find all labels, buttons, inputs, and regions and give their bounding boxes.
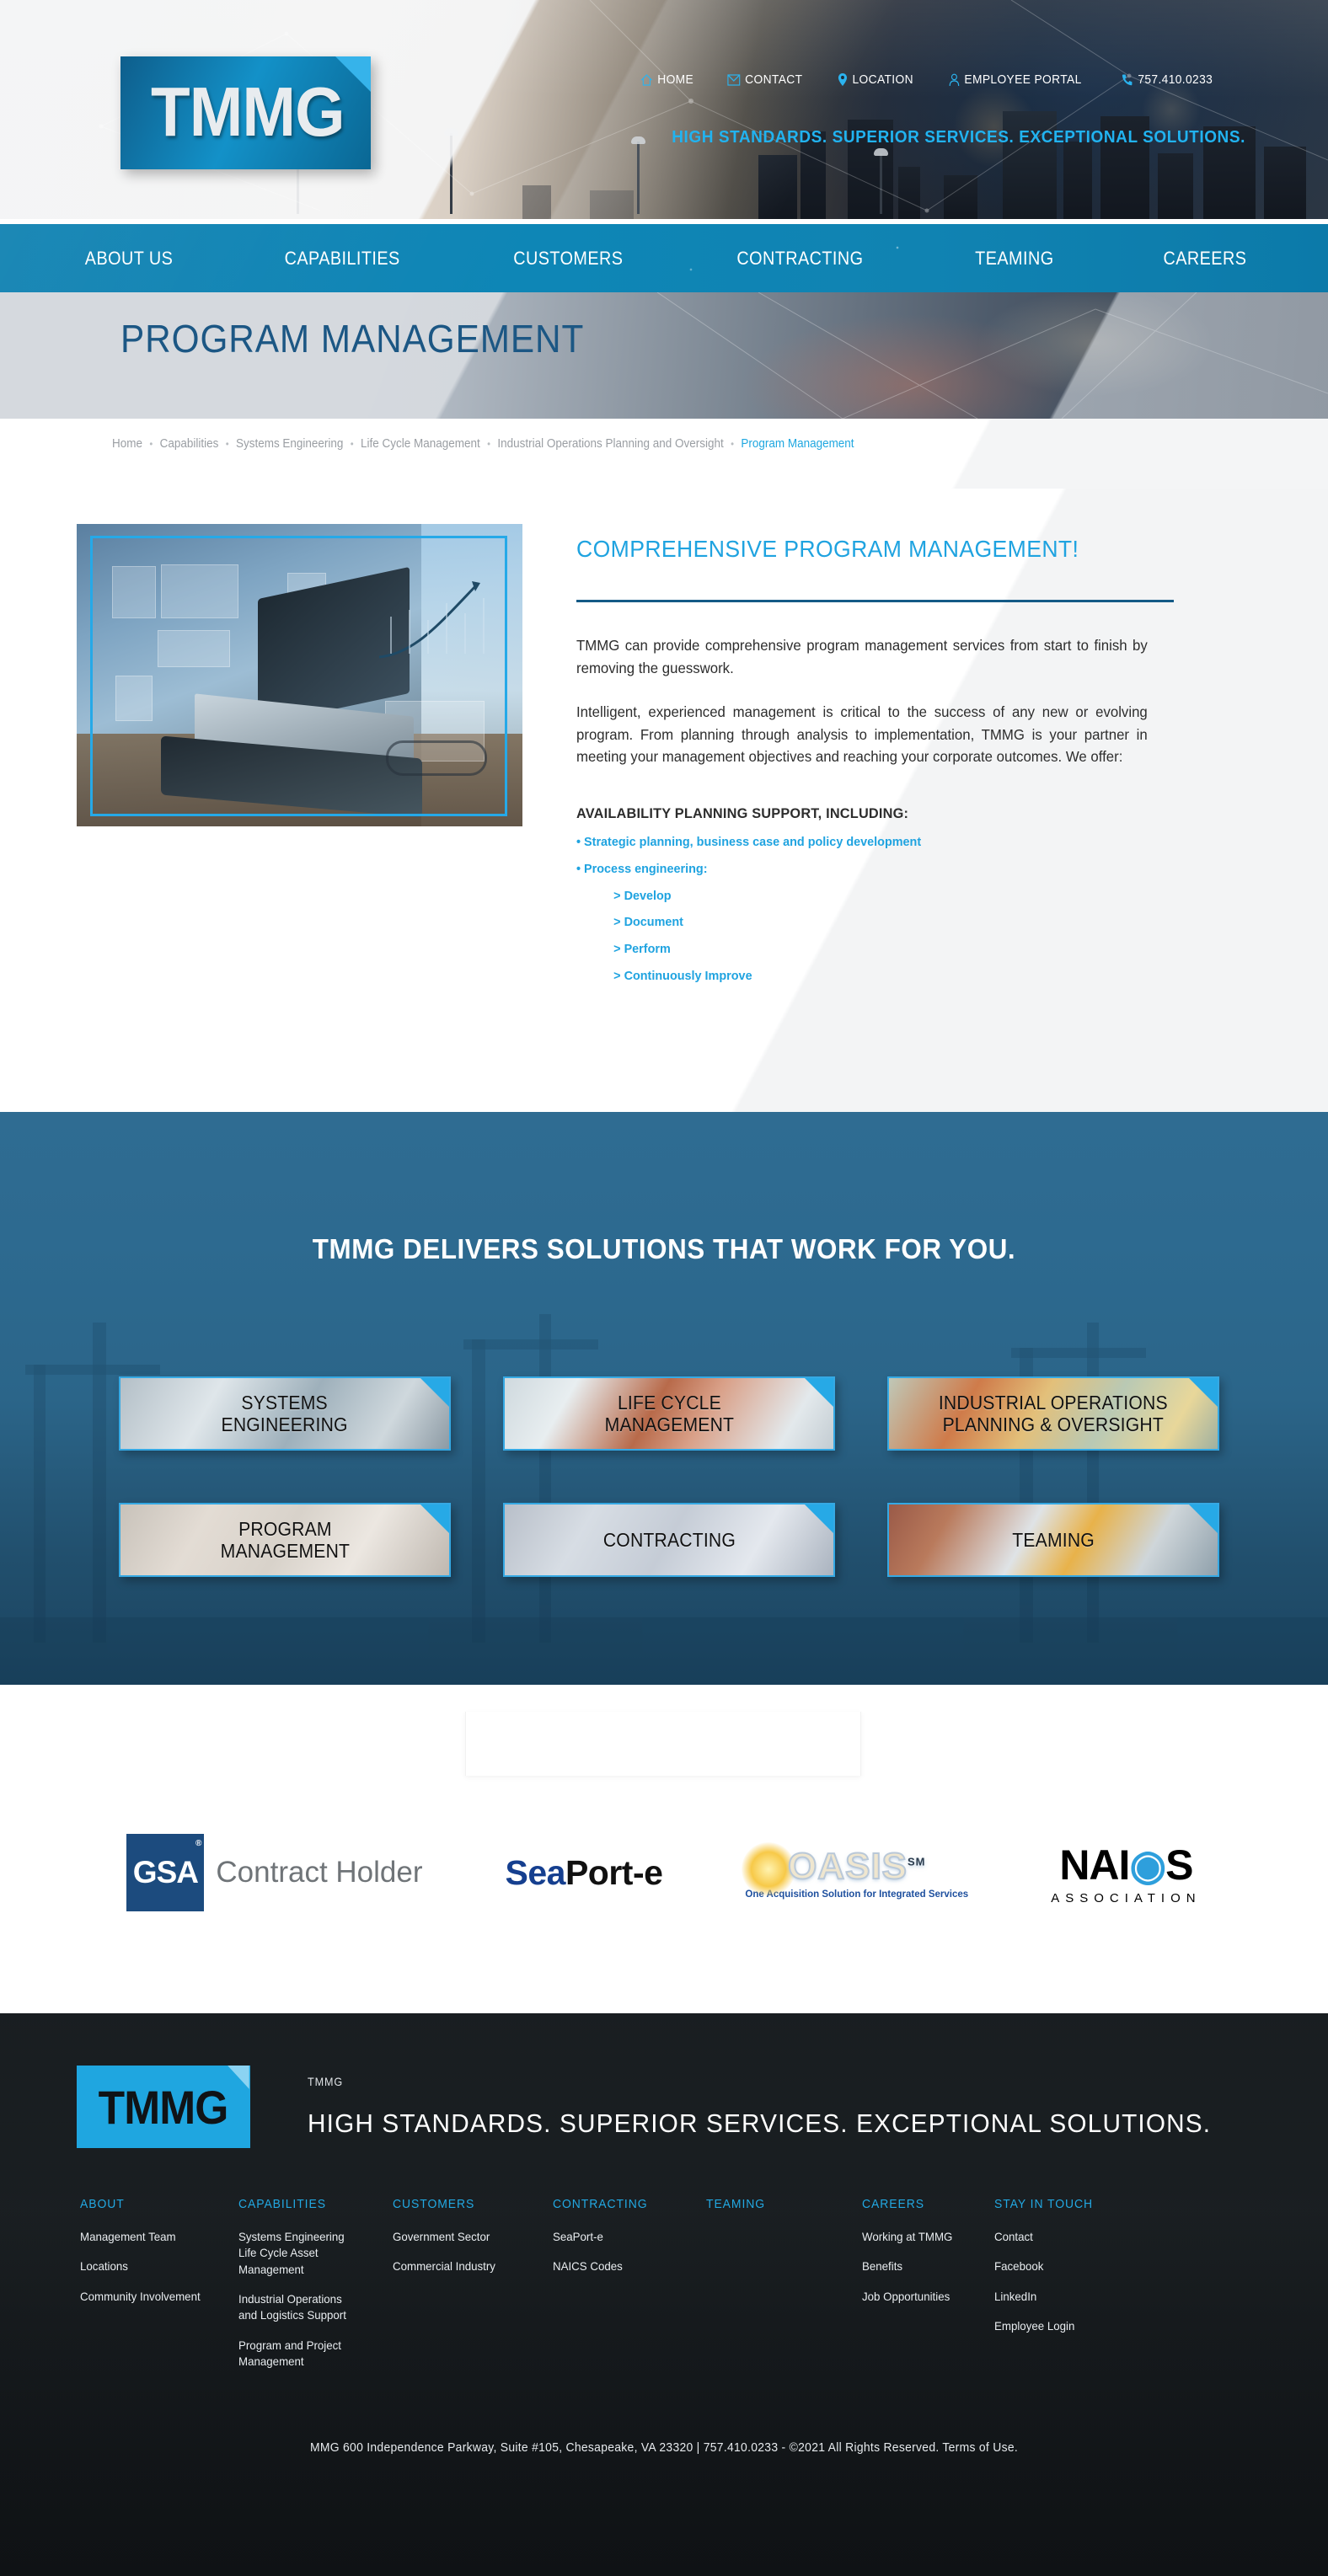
utility-link-phone[interactable]: 757.410.0233 (1122, 72, 1213, 87)
breadcrumb-item-capabilities[interactable]: Capabilities (160, 437, 219, 451)
tile-label: LIFE CYCLEMANAGEMENT (604, 1392, 733, 1436)
tile-systems-engineering[interactable]: SYSTEMSENGINEERING (119, 1376, 451, 1451)
oasis-wordmark: OASIS (788, 1846, 908, 1887)
utility-link-label: EMPLOYEE PORTAL (964, 72, 1081, 87)
footer-column-contracting: CONTRACTING SeaPort-e NAICS Codes (553, 2197, 706, 2370)
footer-column-heading: TEAMING (706, 2197, 851, 2211)
footer-link[interactable]: Working at TMMG (862, 2229, 988, 2245)
naics-circle-icon: ◉ (1129, 1841, 1165, 1889)
oasis-sm-mark: SM (908, 1855, 926, 1868)
registered-icon: ® (195, 1839, 201, 1848)
oasis-logo[interactable]: OASISSM One Acquisition Solution for Int… (745, 1846, 968, 1900)
footer-link[interactable]: SeaPort-e (553, 2229, 699, 2245)
nav-item-careers[interactable]: CAREERS (1164, 248, 1247, 270)
logo-text: TMMG (151, 72, 345, 152)
nav-item-teaming[interactable]: TEAMING (975, 248, 1053, 270)
list-item: > Perform (576, 936, 1224, 963)
footer-link[interactable]: NAICS Codes (553, 2258, 699, 2274)
nav-item-customers[interactable]: CUSTOMERS (513, 248, 623, 270)
page-title-band: PROGRAM MANAGEMENT (0, 292, 1328, 419)
utility-link-contact[interactable]: CONTACT (727, 72, 802, 87)
footer-link[interactable]: Industrial Operationsand Logistics Suppo… (238, 2291, 385, 2324)
content-feature-image (77, 524, 522, 826)
naics-wordmark: NAI◉S (1051, 1841, 1201, 1889)
tile-life-cycle-management[interactable]: LIFE CYCLEMANAGEMENT (503, 1376, 835, 1451)
footer-link[interactable]: Employee Login (994, 2318, 1154, 2334)
utility-nav: HOME CONTACT LOCATION (640, 72, 1230, 87)
footer-link[interactable]: Systems EngineeringLife Cycle AssetManag… (238, 2229, 385, 2278)
nav-item-about-us[interactable]: ABOUT US (85, 248, 173, 270)
tile-contracting[interactable]: CONTRACTING (503, 1503, 835, 1577)
main-content: COMPREHENSIVE PROGRAM MANAGEMENT! TMMG c… (0, 489, 1328, 1112)
footer-tagline: HIGH STANDARDS. SUPERIOR SERVICES. EXCEP… (308, 2108, 1211, 2139)
footer-link[interactable]: LinkedIn (994, 2289, 1154, 2305)
seaport-suffix: Port-e (565, 1853, 662, 1892)
list-item: • Process engineering: (576, 856, 1224, 883)
content-list: • Strategic planning, business case and … (576, 829, 1251, 990)
hero-banner: TMMG HOME CONTACT LOC (0, 0, 1328, 219)
footer-link[interactable]: Commercial Industry (393, 2258, 545, 2274)
utility-link-label: HOME (657, 72, 693, 87)
list-item: • Strategic planning, business case and … (576, 829, 1224, 856)
footer-link-columns: ABOUT Management Team Locations Communit… (77, 2197, 1251, 2370)
list-item: > Develop (576, 883, 1224, 910)
content-copy: COMPREHENSIVE PROGRAM MANAGEMENT! TMMG c… (576, 524, 1251, 990)
footer-column-teaming: TEAMING (706, 2197, 862, 2370)
naics-association-logo[interactable]: NAI◉S ASSOCIATION (1051, 1841, 1201, 1905)
envelope-icon (727, 74, 741, 86)
footer-link[interactable]: Government Sector (393, 2229, 545, 2245)
breadcrumb-item-systems-engineering[interactable]: Systems Engineering (236, 437, 343, 451)
breadcrumb-separator: • (731, 438, 734, 450)
tile-label: TEAMING (1012, 1529, 1095, 1551)
gsa-contract-holder-logo[interactable]: GSA® Contract Holder (126, 1834, 422, 1911)
header-tagline: HIGH STANDARDS. SUPERIOR SERVICES. EXCEP… (672, 128, 1224, 147)
utility-link-home[interactable]: HOME (640, 72, 693, 87)
footer-column-about: ABOUT Management Team Locations Communit… (80, 2197, 238, 2370)
breadcrumb-separator: • (487, 438, 490, 450)
utility-link-label: LOCATION (852, 72, 913, 87)
utility-link-label: 757.410.0233 (1138, 72, 1213, 87)
tile-teaming[interactable]: TEAMING (887, 1503, 1219, 1577)
partner-logos-section: GSA® Contract Holder SeaPort-e OASISSM O… (0, 1685, 1328, 2013)
home-icon (640, 73, 653, 87)
gsa-mark: GSA® (126, 1834, 204, 1911)
tile-label: PROGRAMMANAGEMENT (220, 1518, 349, 1563)
footer-column-capabilities: CAPABILITIES Systems EngineeringLife Cyc… (238, 2197, 393, 2370)
content-paragraph: TMMG can provide comprehensive program m… (576, 634, 1148, 679)
tile-label: CONTRACTING (602, 1529, 735, 1551)
breadcrumb-separator: • (226, 438, 229, 450)
list-item: > Continuously Improve (576, 963, 1224, 990)
utility-link-location[interactable]: LOCATION (838, 72, 913, 87)
utility-link-label: CONTACT (745, 72, 802, 87)
footer-column-heading: STAY IN TOUCH (994, 2197, 1151, 2211)
content-list-heading: AVAILABILITY PLANNING SUPPORT, INCLUDING… (576, 805, 1224, 822)
footer-kicker: TMMG (308, 2075, 1154, 2088)
solutions-section: TMMG DELIVERS SOLUTIONS THAT WORK FOR YO… (0, 1112, 1328, 1685)
footer-link[interactable]: Benefits (862, 2258, 988, 2274)
footer-column-heading: ABOUT (80, 2197, 228, 2211)
breadcrumb-item-home[interactable]: Home (112, 437, 142, 451)
breadcrumb: Home • Capabilities • Systems Engineerin… (0, 419, 1235, 451)
footer-link[interactable]: Facebook (994, 2258, 1154, 2274)
naics-sublabel: ASSOCIATION (1051, 1891, 1201, 1905)
nav-item-capabilities[interactable]: CAPABILITIES (285, 248, 400, 270)
footer-copyright: MMG 600 Independence Parkway, Suite #105… (27, 2441, 1302, 2455)
nav-item-contracting[interactable]: CONTRACTING (736, 248, 863, 270)
seaport-e-logo[interactable]: SeaPort-e (506, 1853, 663, 1893)
site-logo[interactable]: TMMG (120, 56, 371, 169)
footer-logo[interactable]: TMMG (77, 2066, 250, 2148)
gsa-logo-label: Contract Holder (216, 1856, 422, 1889)
site-footer: TMMG TMMG HIGH STANDARDS. SUPERIOR SERVI… (0, 2013, 1328, 2576)
content-heading: COMPREHENSIVE PROGRAM MANAGEMENT! (576, 536, 1218, 563)
main-navigation: ABOUT US CAPABILITIES CUSTOMERS CONTRACT… (0, 224, 1328, 292)
map-pin-icon (838, 72, 848, 87)
partner-panel (465, 1712, 861, 1776)
footer-logo-corner-fold (228, 2066, 249, 2089)
footer-column-heading: CAREERS (862, 2197, 985, 2211)
tile-program-management[interactable]: PROGRAMMANAGEMENT (119, 1503, 451, 1577)
content-divider (576, 600, 1174, 602)
seaport-prefix: Sea (506, 1853, 565, 1892)
content-paragraph: Intelligent, experienced management is c… (576, 701, 1148, 768)
footer-column-heading: CONTRACTING (553, 2197, 695, 2211)
tile-industrial-operations[interactable]: INDUSTRIAL OPERATIONSPLANNING & OVERSIGH… (887, 1376, 1219, 1451)
solutions-tile-grid: SYSTEMSENGINEERING LIFE CYCLEMANAGEMENT … (119, 1376, 1209, 1577)
breadcrumb-item-life-cycle-management[interactable]: Life Cycle Management (361, 437, 480, 451)
page-title: PROGRAM MANAGEMENT (120, 316, 584, 361)
page-root: TMMG HOME CONTACT LOC (0, 0, 1328, 2576)
footer-link[interactable]: Locations (80, 2258, 231, 2274)
footer-link[interactable]: Management Team (80, 2229, 231, 2245)
breadcrumb-separator: • (351, 438, 354, 450)
footer-column-customers: CUSTOMERS Government Sector Commercial I… (393, 2197, 553, 2370)
footer-column-stay-in-touch: STAY IN TOUCH Contact Facebook LinkedIn … (994, 2197, 1163, 2370)
list-item: > Document (576, 909, 1224, 936)
footer-logo-text: TMMG (99, 2080, 228, 2135)
utility-link-employee-portal[interactable]: EMPLOYEE PORTAL (949, 72, 1082, 87)
tile-label: INDUSTRIAL OPERATIONSPLANNING & OVERSIGH… (939, 1392, 1168, 1436)
footer-column-careers: CAREERS Working at TMMG Benefits Job Opp… (862, 2197, 994, 2370)
breadcrumb-separator: • (149, 438, 153, 450)
footer-column-heading: CAPABILITIES (238, 2197, 382, 2211)
solutions-title: TMMG DELIVERS SOLUTIONS THAT WORK FOR YO… (33, 1233, 1294, 1265)
footer-link[interactable]: Contact (994, 2229, 1154, 2245)
footer-link[interactable]: Program and ProjectManagement (238, 2338, 385, 2370)
footer-link[interactable]: Job Opportunities (862, 2289, 988, 2305)
user-icon (949, 73, 960, 87)
phone-icon (1122, 73, 1133, 86)
breadcrumb-item-industrial-operations[interactable]: Industrial Operations Planning and Overs… (497, 437, 723, 451)
footer-column-heading: CUSTOMERS (393, 2197, 542, 2211)
breadcrumb-item-current: Program Management (741, 437, 854, 451)
tile-label: SYSTEMSENGINEERING (222, 1392, 348, 1436)
footer-link[interactable]: Community Involvement (80, 2289, 231, 2305)
